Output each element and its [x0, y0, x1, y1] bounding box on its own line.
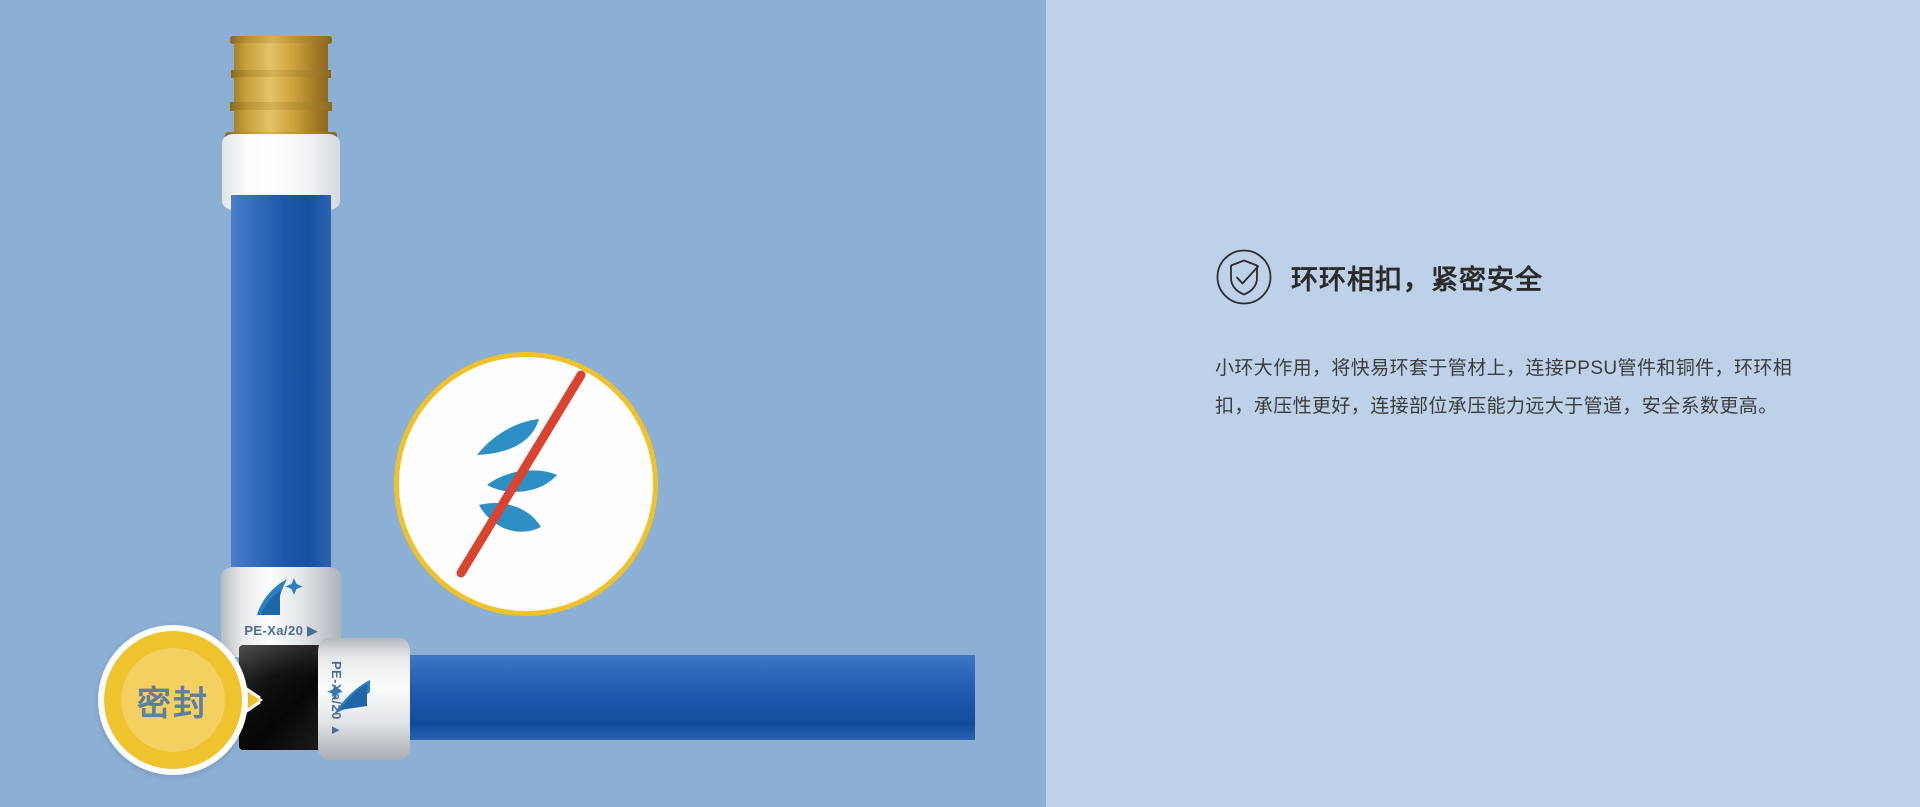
horizontal-fitting-ring: PE-Xa/20 ▲ [318, 638, 410, 760]
feature-info-block: 环环相扣，紧密安全 小环大作用，将快易环套于管材上，连接PPSU管件和铜件，环环… [1215, 248, 1815, 426]
seal-badge: 密封 [98, 625, 268, 785]
brass-fitting [234, 36, 328, 140]
promo-banner: PE-Xa/20 ▶ PE-Xa/20 ▲ [0, 0, 1920, 807]
shield-check-icon [1215, 248, 1273, 306]
vertical-pipe [231, 195, 331, 585]
feature-title: 环环相扣，紧密安全 [1291, 258, 1543, 297]
brass-body-1 [234, 43, 328, 71]
no-leak-icon [399, 357, 653, 611]
no-leak-callout [394, 352, 658, 616]
horizontal-pipe [380, 655, 975, 740]
brand-logo-icon [247, 575, 313, 621]
brass-body-3 [234, 110, 328, 134]
product-illustration: PE-Xa/20 ▶ PE-Xa/20 ▲ [0, 0, 1046, 807]
pipe-spec-label: PE-Xa/20 ▲ [326, 654, 344, 744]
feature-description: 小环大作用，将快易环套于管材上，连接PPSU管件和铜件，环环相扣，承压性更好，连… [1215, 350, 1795, 426]
seal-badge-label: 密封 [121, 648, 225, 752]
feature-heading-row: 环环相扣，紧密安全 [1215, 248, 1815, 306]
brass-body-2 [234, 77, 328, 103]
